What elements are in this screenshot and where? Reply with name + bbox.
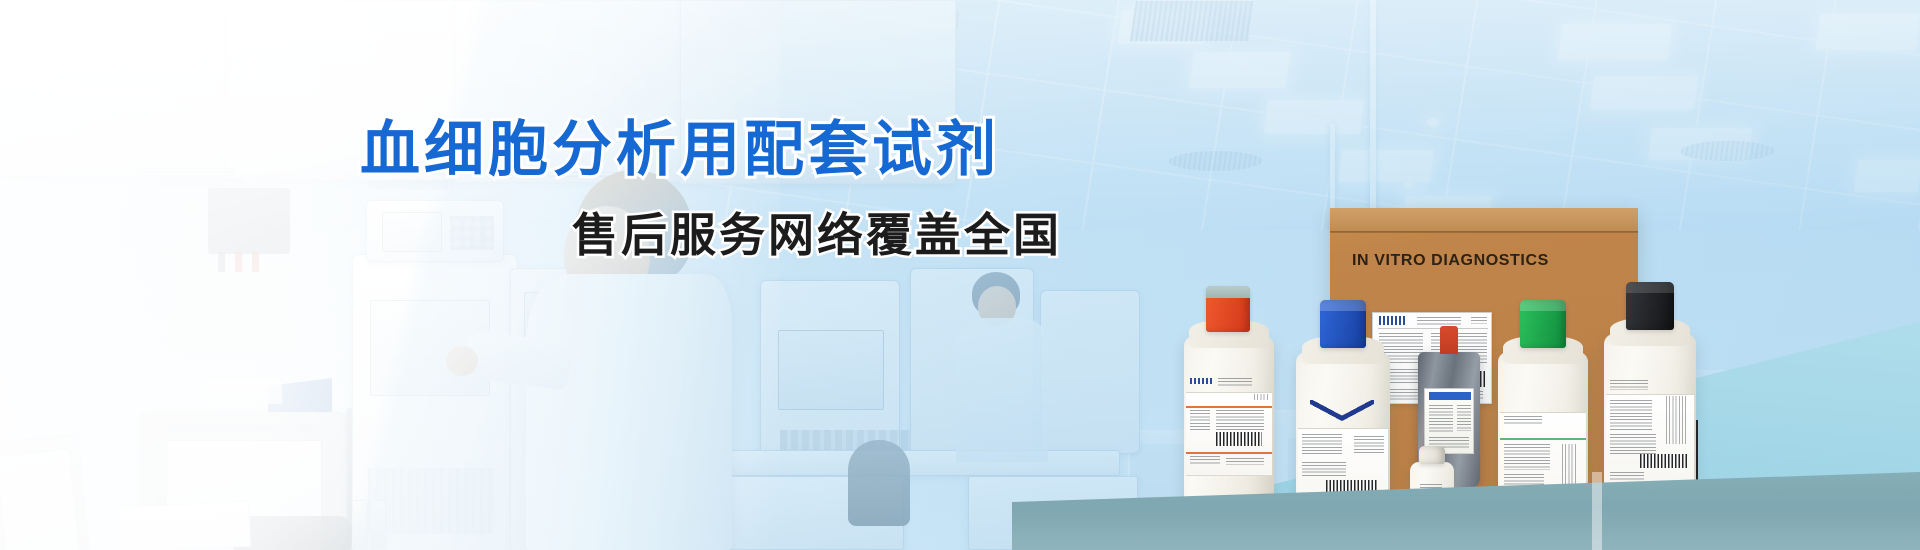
shipping-box-label: IN VITRO DIAGNOSTICS — [1352, 252, 1549, 270]
cap-highlight — [1320, 300, 1366, 311]
sprinkler-head — [1427, 118, 1439, 127]
paper-sheet — [119, 501, 251, 550]
label-text-vertical — [1666, 396, 1688, 444]
technician-lab-coat — [956, 318, 1048, 462]
label-text-block — [1302, 462, 1346, 478]
ceiling-light — [1190, 52, 1290, 88]
bottle-cap — [1320, 300, 1366, 348]
secondary-analyzer-screen — [778, 330, 884, 410]
label-text-block — [1226, 458, 1264, 465]
vial-cap — [1419, 446, 1445, 464]
ceiling-vent — [1129, 0, 1255, 42]
label-text-block — [1504, 444, 1550, 470]
label-accent-line — [1186, 406, 1272, 408]
sprinkler-head — [1404, 180, 1414, 189]
dispenser-nozzle — [252, 252, 259, 272]
analyzer-display — [382, 212, 442, 252]
table-edge-seam — [1592, 472, 1602, 550]
label-text-block — [1610, 472, 1644, 481]
binder — [352, 500, 368, 550]
analyzer-keypad — [450, 216, 494, 250]
label-text-block — [1190, 456, 1220, 464]
dispenser-nozzle — [218, 252, 225, 272]
ceiling-light — [1558, 24, 1672, 60]
label-text-block — [1190, 378, 1212, 384]
wall-dispenser — [208, 188, 290, 254]
label-text-block — [1354, 436, 1384, 454]
label-text-block — [1504, 474, 1544, 486]
shipping-box-seam — [1330, 231, 1638, 233]
cap-highlight — [1206, 286, 1250, 298]
cabinet-label — [368, 180, 454, 189]
binder — [370, 500, 386, 550]
label-text-block — [1610, 434, 1656, 454]
label-text-block — [1429, 405, 1453, 433]
technician-lab-coat — [526, 274, 732, 550]
pouch-label — [1424, 388, 1474, 454]
pouch-badge — [1429, 392, 1471, 400]
label-text-block — [1504, 416, 1542, 424]
label-volume-mark — [1254, 394, 1268, 400]
label-text-block — [1471, 317, 1487, 324]
wall-cabinet — [0, 0, 230, 176]
ceiling-light — [1590, 76, 1698, 110]
bottle-cap — [1520, 300, 1566, 348]
cap-highlight — [1520, 300, 1566, 311]
paper-stack — [204, 378, 282, 404]
cabinet-label — [158, 178, 244, 187]
label-barcode — [1640, 454, 1688, 468]
label-accent-line — [1500, 438, 1586, 440]
cabinet-handle[interactable] — [140, 168, 236, 173]
lab-technician-foreground — [520, 170, 780, 550]
bottle-cap — [1626, 282, 1674, 330]
label-text-block — [1417, 317, 1461, 325]
label-barcode — [1216, 432, 1262, 446]
pouch-spout-cap — [1440, 326, 1458, 354]
label-divider — [1378, 328, 1488, 329]
wall-cabinet — [454, 0, 684, 182]
label-accent-line — [1186, 452, 1272, 454]
shipping-box-flap — [1330, 208, 1638, 232]
label-text-block — [1610, 400, 1652, 430]
wall-cabinet — [680, 0, 956, 184]
flat-monitor-screen — [0, 448, 82, 550]
label-text-block — [1610, 380, 1648, 390]
label-text-block — [1190, 410, 1210, 432]
monitor-bezel-buttons — [168, 424, 318, 431]
cap-highlight — [1626, 282, 1674, 293]
ceiling-light — [1854, 160, 1920, 192]
ceiling-light — [1338, 150, 1434, 182]
wall-cabinet — [226, 0, 458, 180]
label-text-block — [1216, 410, 1264, 430]
technician-hand — [446, 346, 478, 376]
bottle-chevron-mark — [1310, 400, 1374, 422]
hero-banner: IN VITRO DIAGNOSTICS — [0, 0, 1920, 550]
bottle-cap — [1206, 286, 1250, 332]
lab-technician-background — [950, 272, 1060, 462]
ceiling-light — [1264, 100, 1364, 134]
label-text-block — [1218, 378, 1252, 386]
cabinet-handle[interactable] — [358, 170, 454, 175]
analyzer-vent — [368, 468, 494, 534]
label-text-block — [1379, 316, 1405, 325]
ceiling-light — [1816, 14, 1920, 50]
label-text-block — [1457, 405, 1471, 431]
dispenser-nozzle — [235, 252, 242, 272]
reagent-bottle-red-cap — [1184, 336, 1274, 512]
office-chair — [848, 440, 910, 526]
label-text-block — [1302, 434, 1342, 456]
